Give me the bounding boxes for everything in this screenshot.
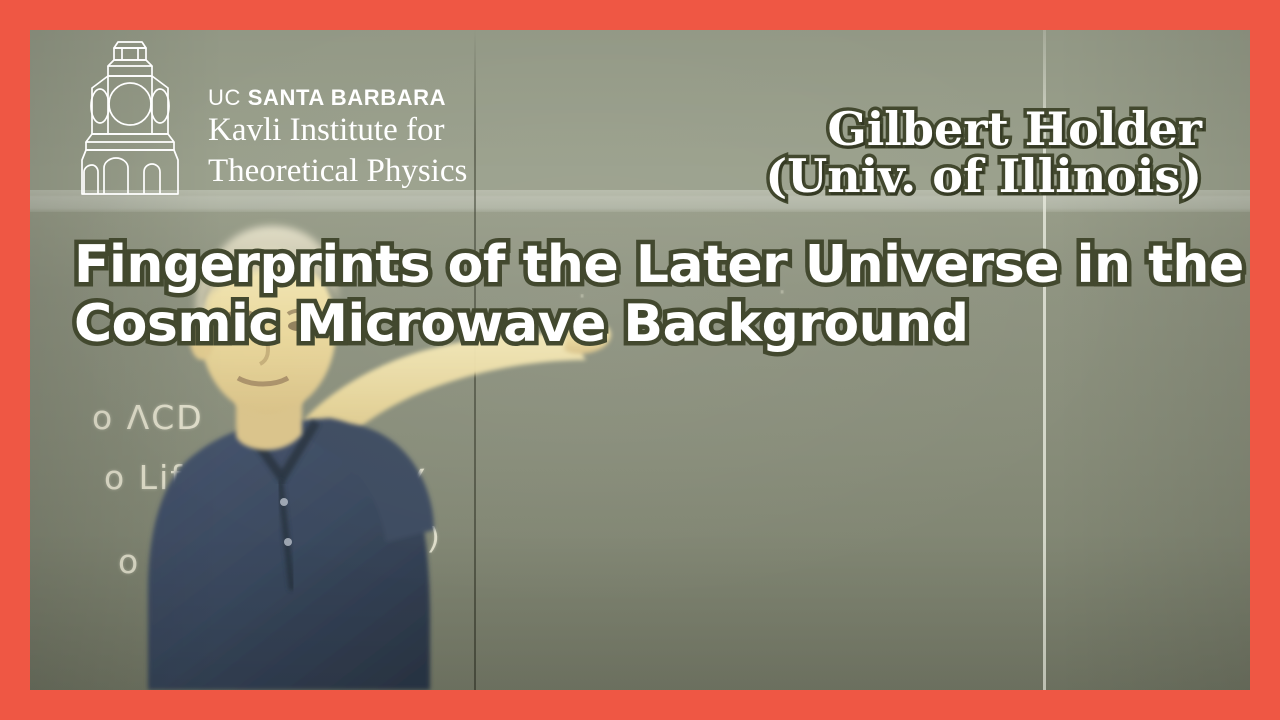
chalk-note: Y xyxy=(400,461,428,507)
video-still: o ΛCD o Life o Ma s of Y ) · · xyxy=(30,30,1250,690)
chalk-note: o ΛCD xyxy=(92,398,204,437)
speaker-credit: Gilbert Holder (Univ. of Illinois) xyxy=(765,106,1202,200)
logo-line-ucsb: UC SANTA BARBARA xyxy=(208,86,467,110)
logo-wordmark: UC SANTA BARBARA Kavli Institute for The… xyxy=(208,38,467,192)
logo-uc-text: UC xyxy=(208,85,248,110)
logo-line-kavli: Kavli Institute for xyxy=(208,110,467,151)
talk-title-line-1: Fingerprints of the Later Universe in th… xyxy=(74,236,1250,295)
speaker-name: Gilbert Holder xyxy=(765,106,1202,153)
talk-title: Fingerprints of the Later Universe in th… xyxy=(74,236,1250,355)
video-thumbnail-frame: o ΛCD o Life o Ma s of Y ) · · xyxy=(0,0,1280,720)
chalk-note: o Ma xyxy=(118,542,205,581)
speaker-affiliation: (Univ. of Illinois) xyxy=(765,153,1202,200)
talk-title-line-2: Cosmic Microwave Background xyxy=(74,295,1250,354)
kitp-logo: UC SANTA BARBARA Kavli Institute for The… xyxy=(70,38,467,198)
chalkboard-seam-left xyxy=(474,30,476,690)
storke-tower-icon xyxy=(70,38,190,198)
chalk-note: o Life xyxy=(104,458,206,497)
logo-line-physics: Theoretical Physics xyxy=(208,151,467,192)
chalk-note: s of xyxy=(280,468,348,507)
logo-santa-barbara-text: SANTA BARBARA xyxy=(248,85,446,110)
